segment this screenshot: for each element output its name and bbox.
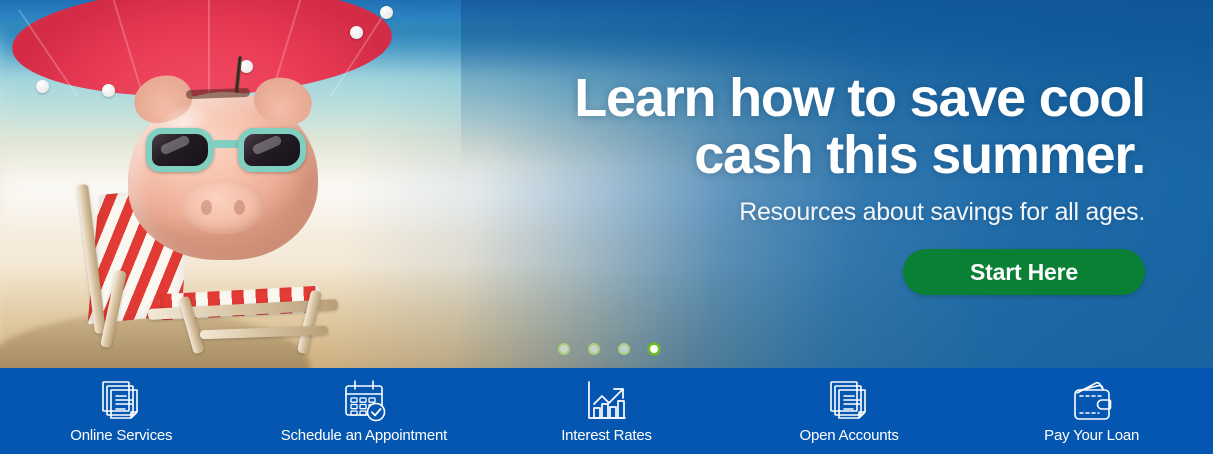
quicklink-label: Open Accounts: [800, 427, 899, 444]
hero-headline: Learn how to save cool cash this summer.: [545, 70, 1145, 184]
hero-banner-carousel[interactable]: Learn how to save cool cash this summer.…: [0, 0, 1213, 368]
documents-icon: [823, 379, 875, 423]
quicklink-open-accounts[interactable]: Open Accounts: [728, 368, 971, 454]
bar-chart-arrow-icon: [580, 379, 632, 423]
hero-headline-line-1: Learn how to save cool: [545, 70, 1145, 127]
carousel-dot-1[interactable]: [558, 343, 570, 355]
quicklink-schedule-appointment[interactable]: Schedule an Appointment: [243, 368, 486, 454]
quicklink-label: Online Services: [70, 427, 172, 444]
carousel-dot-3[interactable]: [618, 343, 630, 355]
start-here-button[interactable]: Start Here: [903, 249, 1145, 295]
carousel-dots[interactable]: [558, 343, 660, 355]
hero-subheadline: Resources about savings for all ages.: [545, 198, 1145, 227]
hero-cta-row: Start Here: [545, 249, 1145, 295]
quick-links-bar: Online Services Schedule an A: [0, 368, 1213, 454]
quicklink-label: Pay Your Loan: [1044, 427, 1139, 444]
quicklink-label: Schedule an Appointment: [281, 427, 447, 444]
hero-copy-block: Learn how to save cool cash this summer.…: [545, 70, 1145, 295]
carousel-dot-2[interactable]: [588, 343, 600, 355]
quicklink-interest-rates[interactable]: Interest Rates: [485, 368, 728, 454]
calendar-check-icon: [338, 379, 390, 423]
carousel-dot-4[interactable]: [648, 343, 660, 355]
documents-icon: [95, 379, 147, 423]
quicklink-online-services[interactable]: Online Services: [0, 368, 243, 454]
hero-headline-line-2: cash this summer.: [545, 127, 1145, 184]
quicklink-pay-your-loan[interactable]: Pay Your Loan: [970, 368, 1213, 454]
quicklink-label: Interest Rates: [561, 427, 652, 444]
wallet-icon: [1066, 379, 1118, 423]
